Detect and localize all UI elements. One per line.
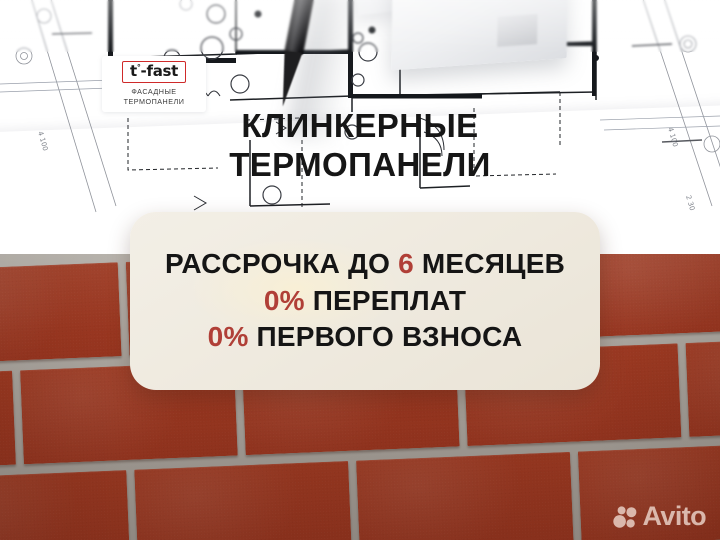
offer-line-3-suffix: ПЕРВОГО ВЗНОСА	[249, 321, 523, 352]
blueprint-top-blur	[0, 0, 720, 52]
brand-tagline: ФАСАДНЫЕ ТЕРМОПАНЕЛИ	[124, 87, 185, 107]
offer-line-1: РАССРОЧКА ДО 6 МЕСЯЦЕВ	[165, 246, 565, 282]
brand-logo-badge: t°-fast ФАСАДНЫЕ ТЕРМОПАНЕЛИ	[102, 56, 206, 112]
headline-line-1: КЛИНКЕРНЫЕ	[0, 106, 720, 145]
svg-text:2 30: 2 30	[684, 194, 696, 211]
advertisement-banner: 4 100 4 100 2 30	[0, 0, 720, 540]
offer-downpayment-value: 0%	[208, 321, 249, 352]
avito-wordmark: Avito	[643, 503, 707, 530]
brick	[0, 371, 16, 474]
brick	[0, 262, 122, 365]
offer-line-2-suffix: ПЕРЕПЛАТ	[305, 285, 466, 316]
offer-line-3: 0% ПЕРВОГО ВЗНОСА	[165, 319, 565, 355]
offer-text: РАССРОЧКА ДО 6 МЕСЯЦЕВ 0% ПЕРЕПЛАТ 0% ПЕ…	[165, 246, 565, 355]
offer-line-2: 0% ПЕРЕПЛАТ	[165, 283, 565, 319]
page-title: КЛИНКЕРНЫЕ ТЕРМОПАНЕЛИ	[0, 106, 720, 185]
offer-overpay-value: 0%	[264, 285, 305, 316]
avito-watermark: Avito	[612, 503, 707, 530]
brand-tagline-line2: ТЕРМОПАНЕЛИ	[124, 97, 185, 106]
brick	[356, 452, 574, 540]
brick	[0, 470, 130, 540]
headline-line-2: ТЕРМОПАНЕЛИ	[0, 145, 720, 184]
brick	[686, 334, 720, 437]
brand-logo-mark-rest: -fast	[141, 62, 178, 80]
offer-line-1-prefix: РАССРОЧКА ДО	[165, 248, 398, 279]
avito-logo-icon	[612, 504, 638, 530]
brand-logo-mark-t: t	[130, 62, 137, 80]
brand-logo-mark: t°-fast	[122, 61, 186, 83]
offer-card: РАССРОЧКА ДО 6 МЕСЯЦЕВ 0% ПЕРЕПЛАТ 0% ПЕ…	[130, 212, 600, 390]
brick	[134, 461, 352, 540]
offer-line-1-suffix: МЕСЯЦЕВ	[414, 248, 565, 279]
offer-months-value: 6	[398, 248, 414, 279]
brand-tagline-line1: ФАСАДНЫЕ	[131, 87, 176, 96]
